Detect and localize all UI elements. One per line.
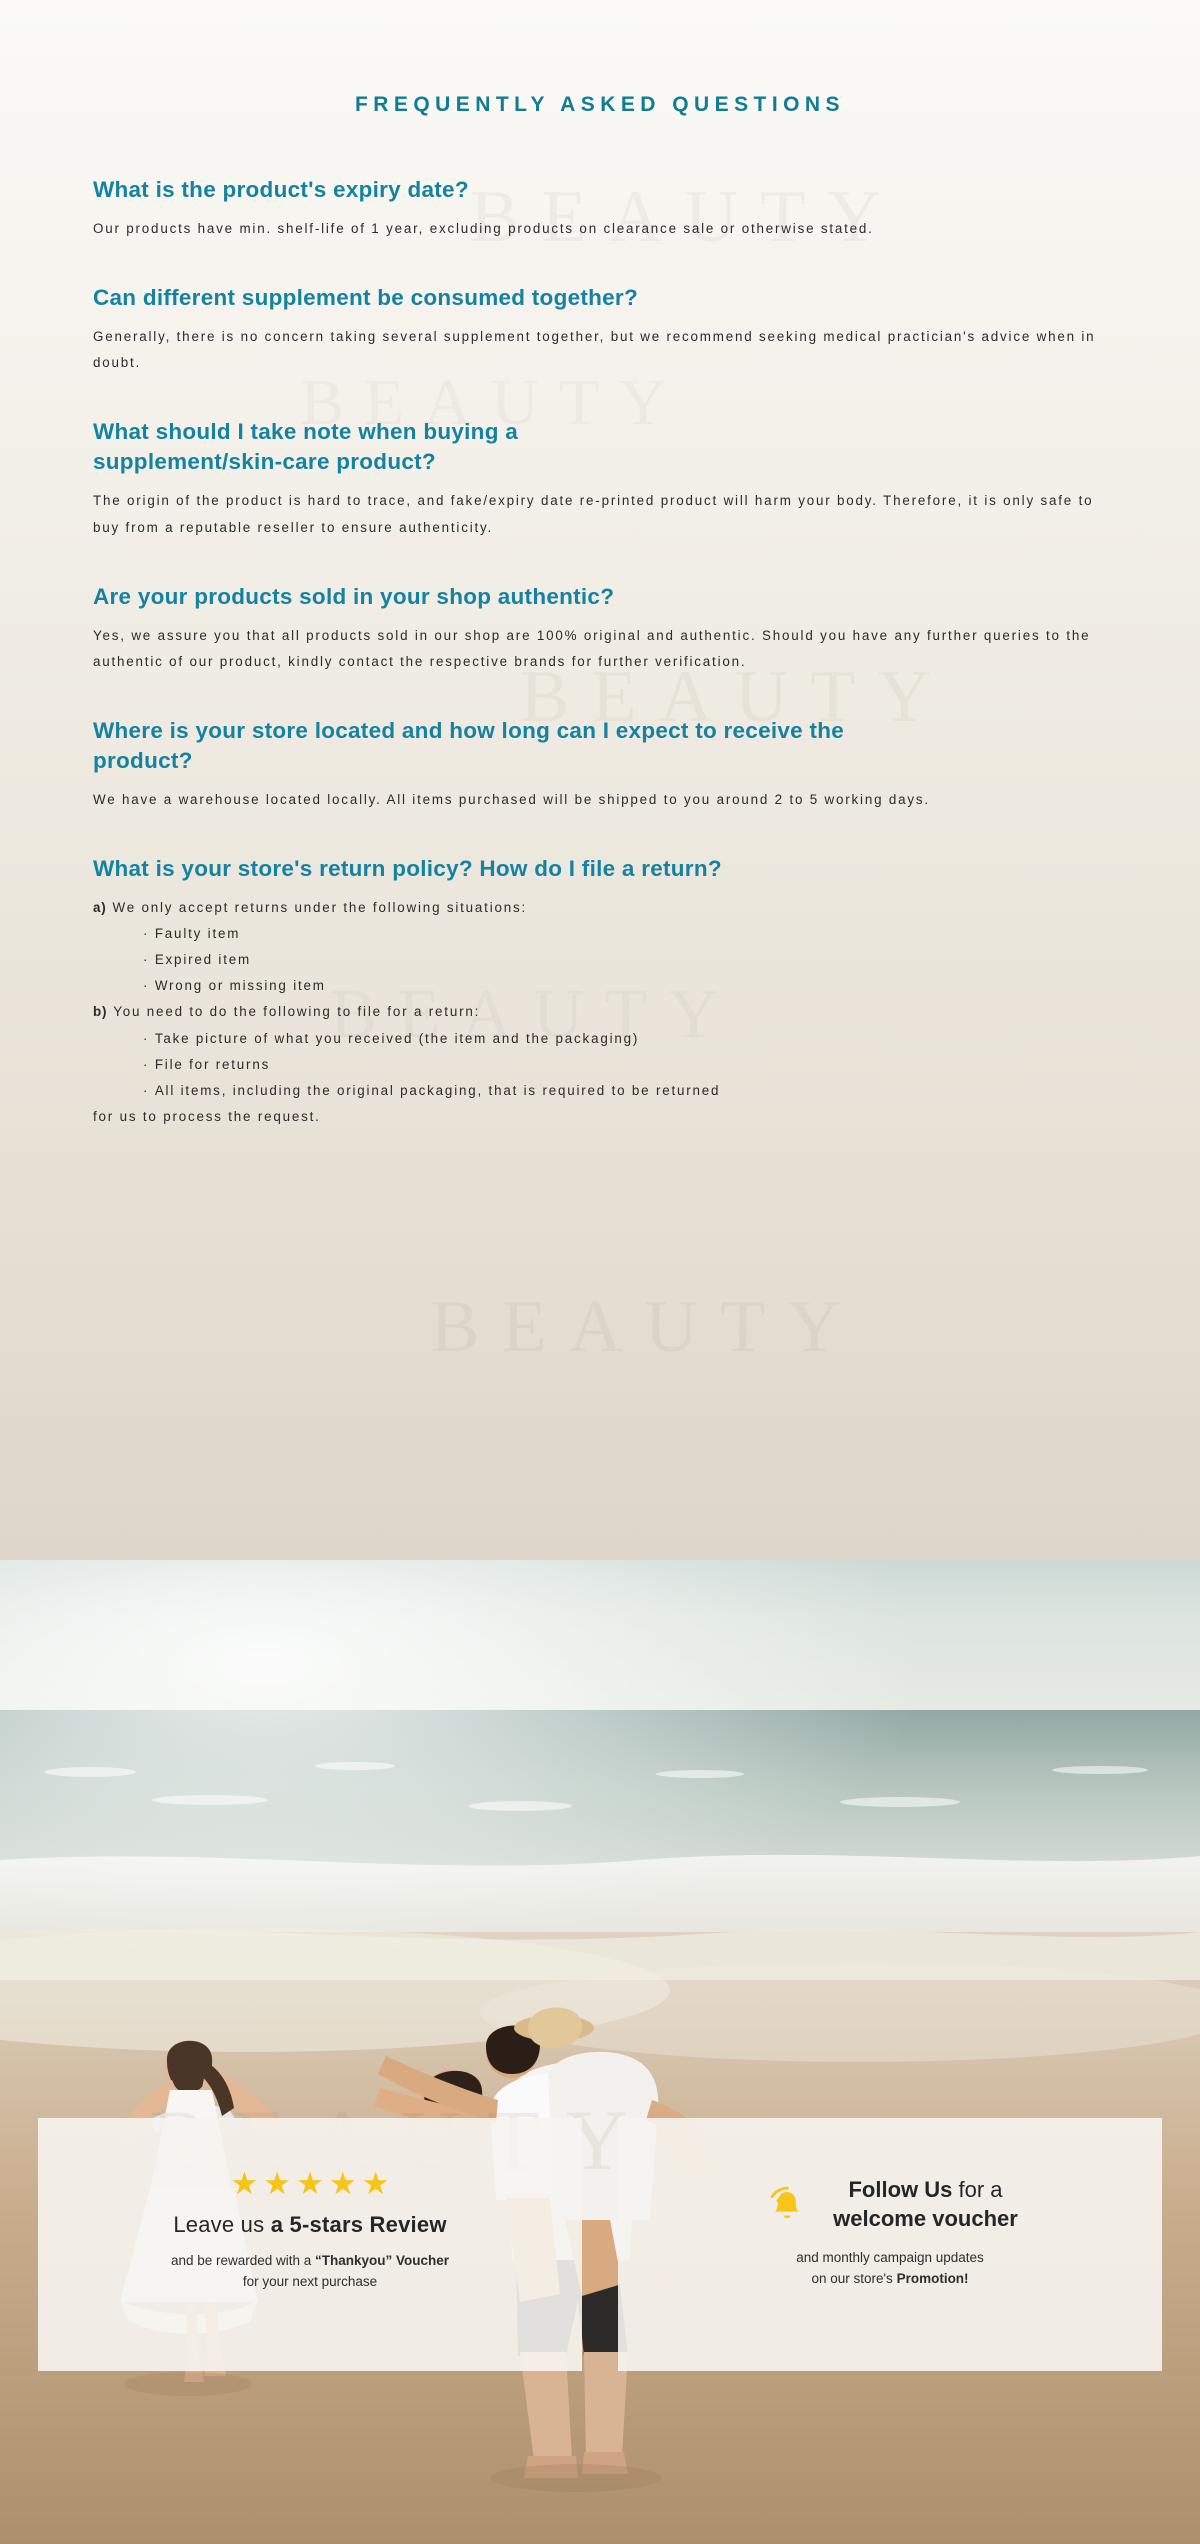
follow-promo-headline: Follow Us for a welcome voucher bbox=[833, 2176, 1018, 2233]
follow-promo-card[interactable]: Follow Us for a welcome voucher and mont… bbox=[618, 2118, 1162, 2371]
list-item-label: All items, including the original packag… bbox=[155, 1083, 721, 1098]
policy-tail: for us to process the request. bbox=[93, 1104, 1142, 1130]
faq-item: Can different supplement be consumed tog… bbox=[93, 283, 1142, 378]
watermark-text: BEAUTY bbox=[430, 1290, 863, 1364]
policy-letter: b) bbox=[93, 999, 107, 1025]
review-promo-subtext: and be rewarded with a “Thankyou” Vouche… bbox=[171, 2251, 449, 2293]
list-item-label: Expired item bbox=[155, 952, 251, 967]
follow-headline-plain: for a bbox=[952, 2177, 1002, 2202]
faq-item: What is the product's expiry date? Our p… bbox=[93, 175, 1142, 243]
policy-group-b: b) You need to do the following to file … bbox=[93, 999, 1142, 1025]
follow-headline-line2-bold: welcome voucher bbox=[833, 2206, 1018, 2231]
faq-answer: Our products have min. shelf-life of 1 y… bbox=[93, 216, 1103, 243]
list-item: · Wrong or missing item bbox=[143, 973, 1142, 999]
list-item: · Take picture of what you received (the… bbox=[143, 1026, 1142, 1052]
star-icon: ★ bbox=[362, 2168, 390, 2199]
faq-item-return-policy: What is your store's return policy? How … bbox=[93, 854, 1142, 1130]
faq-answer: Generally, there is no concern taking se… bbox=[93, 324, 1103, 378]
faq-answer: Yes, we assure you that all products sol… bbox=[93, 623, 1103, 677]
faq-question: What is your store's return policy? How … bbox=[93, 854, 1142, 884]
faq-section: BEAUTY BEAUTY BEAUTY BEAUTY BEAUTY FREQU… bbox=[0, 0, 1200, 1560]
list-item: · Expired item bbox=[143, 947, 1142, 973]
faq-question: Can different supplement be consumed tog… bbox=[93, 283, 1142, 313]
policy-letter: a) bbox=[93, 895, 107, 921]
policy-bullets-b: · Take picture of what you received (the… bbox=[93, 1026, 1142, 1104]
review-headline-bold: a 5-stars Review bbox=[271, 2212, 447, 2237]
follow-subtext-pre: on our store's bbox=[811, 2271, 896, 2286]
review-subtext-pre: and be rewarded with a bbox=[171, 2253, 315, 2268]
review-subtext-bold: “Thankyou” Voucher bbox=[315, 2253, 449, 2268]
policy-bullets-a: · Faulty item · Expired item · Wrong or … bbox=[93, 921, 1142, 999]
list-item-label: Wrong or missing item bbox=[155, 978, 326, 993]
hero-beach-photo bbox=[0, 1560, 1200, 2544]
list-item: · All items, including the original pack… bbox=[143, 1078, 1142, 1104]
faq-answer: The origin of the product is hard to tra… bbox=[93, 488, 1103, 542]
faq-list: What is the product's expiry date? Our p… bbox=[0, 175, 1200, 1130]
follow-headline-line1: Follow Us for a bbox=[833, 2176, 1018, 2205]
policy-text: You need to do the following to file for… bbox=[113, 999, 480, 1025]
faq-item: Where is your store located and how long… bbox=[93, 716, 1142, 814]
bell-icon bbox=[762, 2178, 816, 2232]
faq-answer: We have a warehouse located locally. All… bbox=[93, 787, 1103, 814]
promo-cards-row: ★ ★ ★ ★ ★ Leave us a 5-stars Review and … bbox=[0, 2118, 1200, 2371]
list-item: · File for returns bbox=[143, 1052, 1142, 1078]
policy-group-a: a) We only accept returns under the foll… bbox=[93, 895, 1142, 921]
follow-subtext-line2: on our store's Promotion! bbox=[796, 2269, 984, 2290]
return-policy-body: a) We only accept returns under the foll… bbox=[93, 895, 1142, 1130]
list-item-label: File for returns bbox=[155, 1057, 270, 1072]
star-rating: ★ ★ ★ ★ ★ bbox=[231, 2168, 390, 2199]
faq-question: Where is your store located and how long… bbox=[93, 716, 933, 776]
follow-subtext-bold: Promotion! bbox=[897, 2271, 969, 2286]
follow-promo-subtext: and monthly campaign updates on our stor… bbox=[796, 2248, 984, 2290]
list-item: · Faulty item bbox=[143, 921, 1142, 947]
star-icon: ★ bbox=[231, 2168, 259, 2199]
follow-subtext-line1: and monthly campaign updates bbox=[796, 2248, 984, 2269]
star-icon: ★ bbox=[263, 2168, 291, 2199]
star-icon: ★ bbox=[296, 2168, 324, 2199]
faq-question: What should I take note when buying a su… bbox=[93, 417, 653, 477]
follow-headline-line2: welcome voucher bbox=[833, 2205, 1018, 2234]
faq-question: Are your products sold in your shop auth… bbox=[93, 582, 1142, 612]
star-icon: ★ bbox=[329, 2168, 357, 2199]
review-headline-plain: Leave us bbox=[173, 2212, 270, 2237]
follow-promo-content: Follow Us for a welcome voucher bbox=[762, 2176, 1018, 2233]
faq-item: What should I take note when buying a su… bbox=[93, 417, 1142, 541]
list-item-label: Take picture of what you received (the i… bbox=[155, 1031, 639, 1046]
page-title: FREQUENTLY ASKED QUESTIONS bbox=[0, 0, 1200, 117]
faq-question: What is the product's expiry date? bbox=[93, 175, 1142, 205]
review-promo-card[interactable]: ★ ★ ★ ★ ★ Leave us a 5-stars Review and … bbox=[38, 2118, 582, 2371]
review-subtext-line1: and be rewarded with a “Thankyou” Vouche… bbox=[171, 2251, 449, 2272]
faq-item: Are your products sold in your shop auth… bbox=[93, 582, 1142, 677]
review-promo-headline: Leave us a 5-stars Review bbox=[173, 2212, 446, 2238]
follow-headline-bold: Follow Us bbox=[848, 2177, 952, 2202]
review-subtext-line2: for your next purchase bbox=[171, 2272, 449, 2293]
policy-text: We only accept returns under the followi… bbox=[113, 895, 528, 921]
list-item-label: Faulty item bbox=[155, 926, 240, 941]
